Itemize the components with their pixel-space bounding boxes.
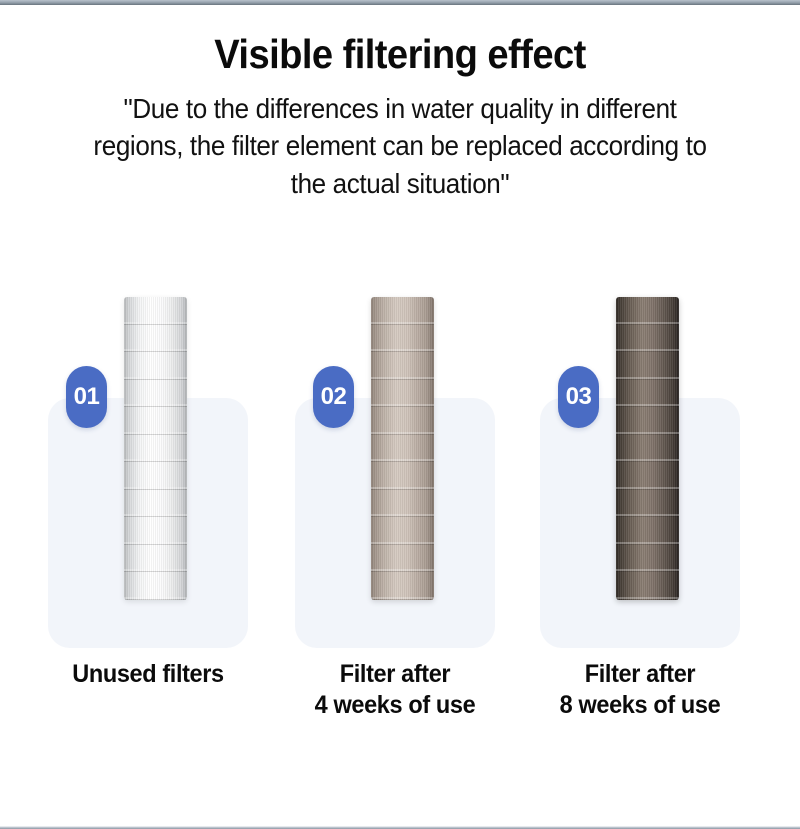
cartridge-ring [124,517,187,545]
cartridge-ring [371,545,434,573]
top-edge-strip [0,0,800,5]
filter-card-unused: 01 Unused filters [48,297,248,757]
cartridge-ring [616,380,679,408]
cartridge-ring [124,380,187,408]
badge-02: 02 [313,366,354,428]
caption-line: Filter after [290,659,501,690]
filter-card-8-weeks: 03 Filter after 8 weeks of use [540,297,740,757]
filter-cartridge-4-weeks [371,297,434,600]
cartridge-ring [616,545,679,573]
subtitle-line-3: the actual situation" [75,165,726,203]
page-title: Visible filtering effect [28,32,772,78]
cartridge-ring [616,462,679,490]
filter-card-4-weeks: 02 Filter after 4 weeks of use [295,297,495,757]
badge-01: 01 [66,366,107,428]
cartridge-ring [371,380,434,408]
caption-line: Unused filters [43,659,254,690]
cartridge-ring [616,352,679,380]
cartridge-ring [371,325,434,353]
cartridge-ring [616,297,679,325]
cartridge-ring [124,462,187,490]
headings-block: Visible filtering effect "Due to the dif… [0,32,800,202]
filter-cartridge-unused [124,297,187,600]
cartridge-ring [124,297,187,325]
cartridge-ring [124,352,187,380]
caption-line: Filter after [535,659,746,690]
caption-8-weeks: Filter after 8 weeks of use [535,659,746,720]
badge-03: 03 [558,366,599,428]
cartridge-ring [371,462,434,490]
cartridge-ring [124,325,187,353]
cartridge-ring [616,490,679,518]
filter-cartridge-8-weeks [616,297,679,600]
cartridge-ring [124,435,187,463]
cartridge-ring [371,435,434,463]
cartridge-ring [371,352,434,380]
caption-line: 4 weeks of use [290,690,501,721]
cartridge-ring [616,517,679,545]
cartridge-ring [124,545,187,573]
cartridge-ring [371,517,434,545]
cartridge-ring [371,297,434,325]
cartridge-ring [124,490,187,518]
cartridge-ring [616,572,679,600]
page-subtitle: "Due to the differences in water quality… [75,90,726,203]
cartridge-ring [371,407,434,435]
product-infographic: Visible filtering effect "Due to the dif… [0,0,800,829]
cartridge-ring [616,325,679,353]
cartridge-ring [616,407,679,435]
filter-comparison-row: 01 Unused filters 02 [0,297,800,757]
caption-4-weeks: Filter after 4 weeks of use [290,659,501,720]
cartridge-ring [124,572,187,600]
cartridge-ring [371,490,434,518]
cartridge-ring [371,572,434,600]
caption-line: 8 weeks of use [535,690,746,721]
caption-unused: Unused filters [43,659,254,690]
subtitle-line-2: regions, the filter element can be repla… [75,127,726,165]
cartridge-ring [616,435,679,463]
cartridge-ring [124,407,187,435]
subtitle-line-1: "Due to the differences in water quality… [75,90,726,128]
